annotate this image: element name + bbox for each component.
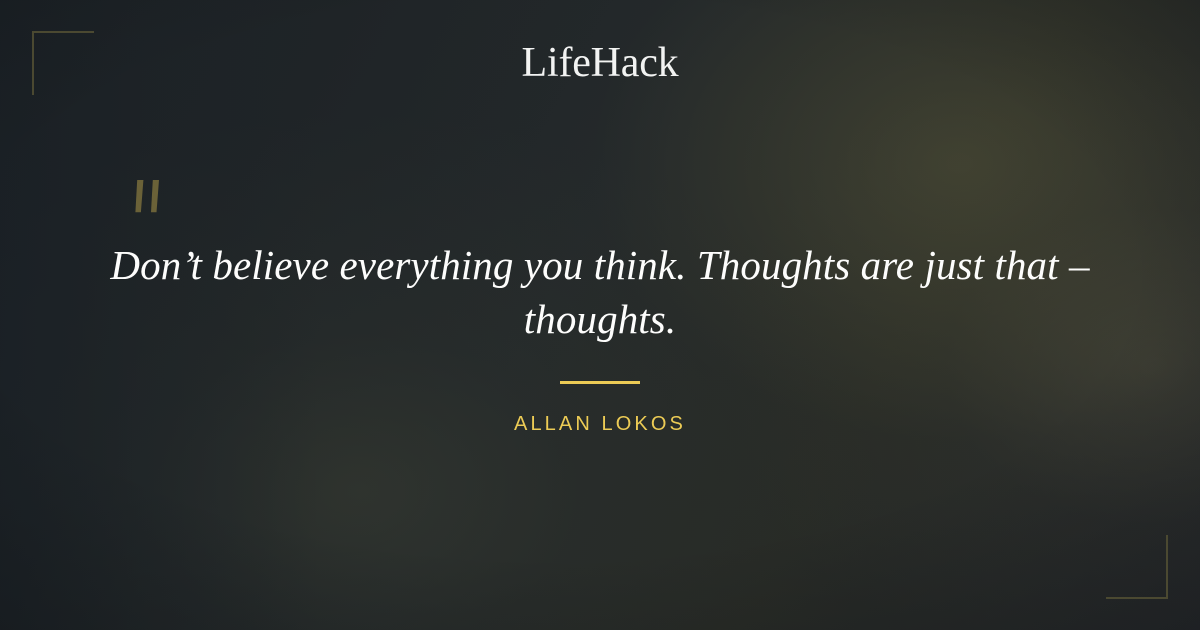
brand-logo: LifeHack	[0, 40, 1200, 86]
quote-card: LifeHack Don’t believe everything you th…	[0, 0, 1200, 630]
quote-text: Don’t believe everything you think. Thou…	[96, 238, 1104, 346]
corner-bracket-horizontal-rule	[32, 31, 94, 33]
quote-divider	[560, 381, 640, 384]
corner-bracket-bottom-right-icon	[1106, 535, 1168, 599]
double-quote-icon	[126, 152, 186, 222]
corner-bracket-vertical-rule	[1166, 535, 1168, 599]
quote-author: ALLAN LOKOS	[0, 413, 1200, 436]
corner-bracket-horizontal-rule	[1106, 597, 1168, 599]
